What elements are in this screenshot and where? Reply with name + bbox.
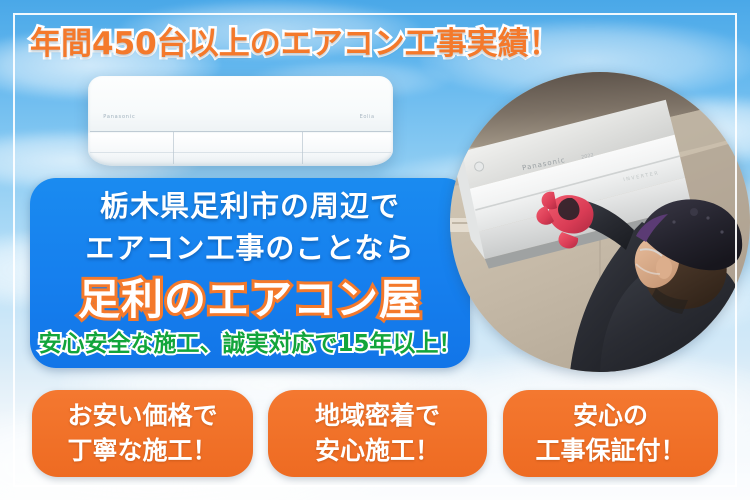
panel-line-subtitle: 安心安全な施工、誠実対応で15年以上！ [30,324,470,358]
panel-line-region: 栃木県足利市の周辺で [30,183,470,225]
air-conditioner-illustration: Panasonic Eolia [88,76,393,166]
page-title: 年間450台以上のエアコン工事実績！ [30,18,560,63]
pill-local-line2: 安心施工！ [315,434,440,469]
pill-price-line2: 丁寧な施工！ [67,434,217,469]
panel-line-service: エアコン工事のことなら [30,225,470,267]
benefit-pill-warranty[interactable]: 安心の 工事保証付！ [503,390,718,477]
ac-body: Panasonic Eolia [88,76,393,166]
ac-seam-line-lower [90,152,391,153]
ac-vent-divider-right [302,132,303,164]
ac-vent-divider-left [173,132,174,164]
benefit-pill-row: お安い価格で 丁寧な施工！ 地域密着で 安心施工！ 安心の 工事保証付！ [0,390,750,480]
pill-warranty-line2: 工事保証付！ [535,434,685,469]
pill-local-line1: 地域密着で [315,399,440,434]
benefit-pill-local[interactable]: 地域密着で 安心施工！ [268,390,487,477]
pill-warranty-line1: 安心の [573,399,648,434]
ac-seam-line [90,131,391,132]
poster-banner: 年間450台以上のエアコン工事実績！ Panasonic Eolia [0,0,750,500]
installation-photo: Panasonic 2022 INVERTER [450,72,750,372]
panel-line-brand: 足利のエアコン屋 [30,266,470,327]
pill-price-line1: お安い価格で [67,399,217,434]
benefit-pill-price[interactable]: お安い価格で 丁寧な施工！ [32,390,253,477]
installation-photo-svg: Panasonic 2022 INVERTER [450,72,750,372]
ac-brand-label: Panasonic [103,114,135,120]
message-panel: 栃木県足利市の周辺で エアコン工事のことなら 足利のエアコン屋 安心安全な施工、… [30,178,470,368]
ac-model-label: Eolia [360,114,375,120]
